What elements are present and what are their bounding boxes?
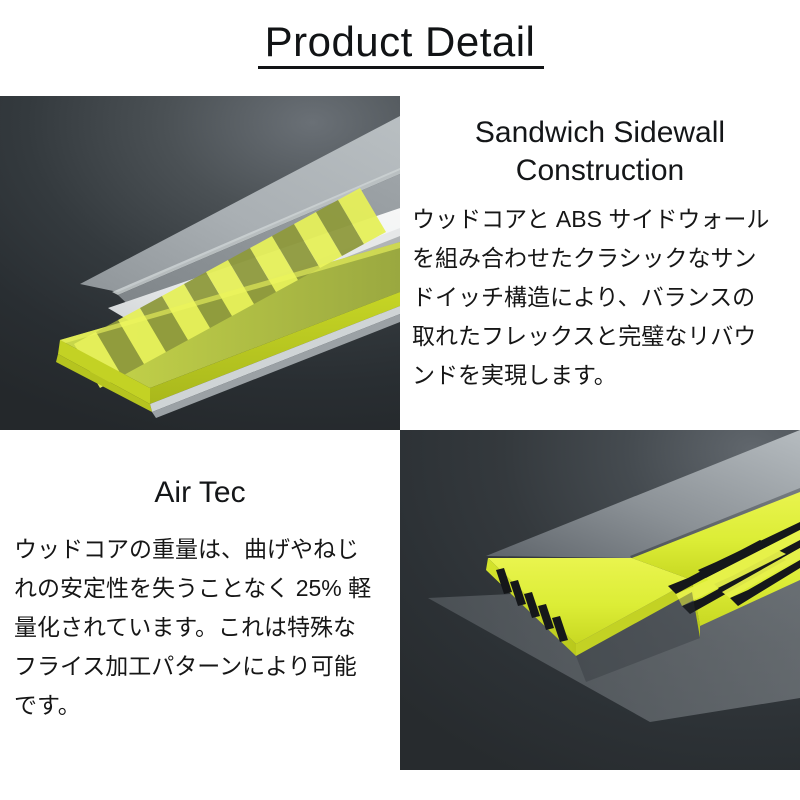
product-detail-page: Product Detail [0, 0, 800, 800]
render-backdrop-dark-gradient-2 [400, 430, 800, 770]
sandwich-heading-line-2: Construction [516, 154, 684, 187]
page-header: Product Detail [0, 0, 800, 96]
sandwich-body-text: ウッドコアと ABS サイドウォールを組み合わせたクラシックなサンドイッチ構造に… [400, 190, 800, 395]
render-backdrop-dark-gradient [0, 96, 400, 430]
air-tec-body-text: ウッドコアの重量は、曲げやねじれの安定性を失うことなく 25% 軽量化されていま… [0, 512, 400, 725]
sandwich-construction-image [0, 96, 400, 430]
sidewall-yellow-accent [0, 96, 400, 430]
feature-grid: Sandwich Sidewall Construction ウッドコアと AB… [0, 96, 800, 770]
air-tec-image [400, 430, 800, 770]
sandwich-heading: Sandwich Sidewall Construction [400, 96, 800, 190]
air-tec-heading: Air Tec [0, 430, 400, 512]
sandwich-construction-text: Sandwich Sidewall Construction ウッドコアと AB… [400, 96, 800, 430]
milled-core-illustration [400, 430, 800, 770]
sandwich-heading-line-1: Sandwich Sidewall [475, 116, 725, 149]
page-title: Product Detail [0, 18, 800, 66]
air-tec-text: Air Tec ウッドコアの重量は、曲げやねじれの安定性を失うことなく 25% … [0, 430, 400, 770]
title-underline-rule [258, 66, 544, 69]
